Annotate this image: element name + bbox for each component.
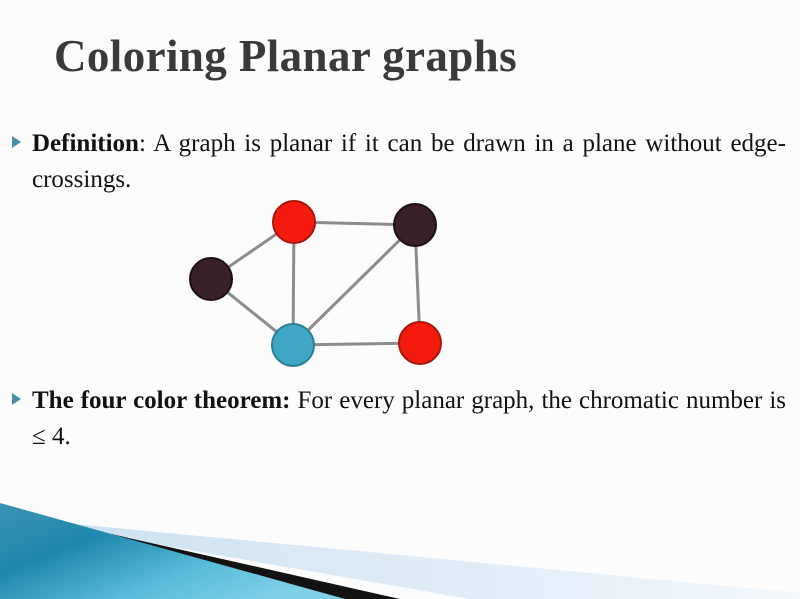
bullet-definition-separator: : bbox=[139, 130, 153, 157]
graph-node-top bbox=[273, 201, 315, 243]
black-wedge bbox=[0, 509, 400, 599]
page-title: Coloring Planar graphs bbox=[54, 28, 754, 84]
bullet-definition-lead: Definition bbox=[32, 130, 139, 157]
bullet-definition: Definition: A graph is planar if it can … bbox=[32, 126, 786, 198]
pale-blue-wedge bbox=[0, 517, 800, 599]
graph-node-left bbox=[190, 258, 232, 300]
edge-topright-bottom bbox=[293, 225, 415, 345]
bullet-theorem-lead: The four color theorem: bbox=[32, 387, 291, 414]
bullet-four-color-theorem: The four color theorem: For every planar… bbox=[32, 383, 786, 455]
triangle-bullet-icon bbox=[12, 393, 21, 405]
graph-node-top-right bbox=[394, 204, 436, 246]
graph-edges bbox=[211, 222, 420, 345]
bullet-theorem-text: The four color theorem: For every planar… bbox=[32, 383, 786, 455]
graph-nodes bbox=[190, 201, 441, 366]
bullet-definition-text: Definition: A graph is planar if it can … bbox=[32, 126, 786, 198]
bottom-wedge-decoration bbox=[0, 489, 800, 599]
graph-node-bottom bbox=[272, 324, 314, 366]
graph-node-bottom-right bbox=[399, 322, 441, 364]
planar-graph-illustration bbox=[175, 193, 455, 373]
bullet-theorem-separator bbox=[291, 387, 298, 414]
teal-wedge bbox=[0, 503, 345, 599]
triangle-bullet-icon bbox=[12, 136, 21, 148]
slide: Coloring Planar graphs Definition: A gra… bbox=[0, 0, 800, 599]
